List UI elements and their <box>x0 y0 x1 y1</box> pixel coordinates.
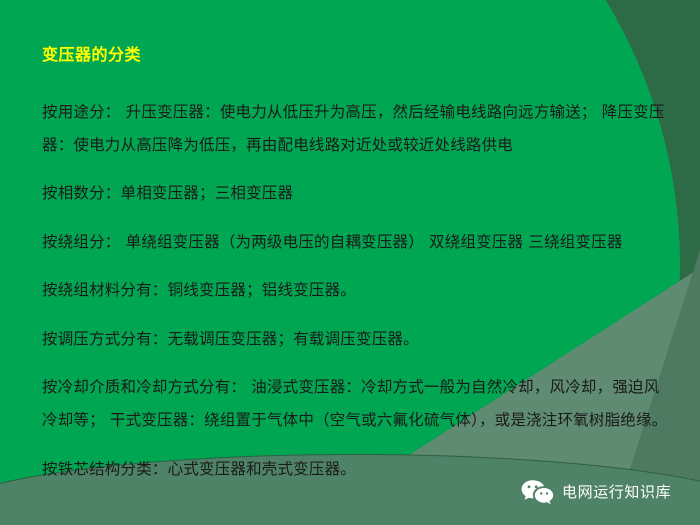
watermark: 电网运行知识库 <box>521 479 671 505</box>
body-text-block: 按用途分： 升压变压器：使电力从低压升为高压，然后经输电线路向远方输送； 降压变… <box>42 80 670 501</box>
page-title: 变压器的分类 <box>42 44 141 66</box>
wechat-icon <box>521 479 555 505</box>
slide-content: 变压器的分类 按用途分： 升压变压器：使电力从低压升为高压，然后经输电线路向远方… <box>0 0 700 525</box>
watermark-label: 电网运行知识库 <box>562 482 671 502</box>
paragraph-by-usage: 按用途分： 升压变压器：使电力从低压升为高压，然后经输电线路向远方输送； 降压变… <box>42 96 670 162</box>
slide-canvas: 变压器的分类 按用途分： 升压变压器：使电力从低压升为高压，然后经输电线路向远方… <box>0 0 700 525</box>
paragraph-by-winding-material: 按绕组材料分有：铜线变压器；铝线变压器。 <box>42 274 670 307</box>
paragraph-by-winding-group: 按绕组分： 单绕组变压器（为两级电压的自耦变压器） 双绕组变压器 三绕组变压器 <box>42 226 670 259</box>
paragraph-by-cooling: 按冷却介质和冷却方式分有： 油浸式变压器：冷却方式一般为自然冷却，风冷却，强迫风… <box>42 371 670 437</box>
paragraph-by-voltage-regulation: 按调压方式分有：无载调压变压器；有载调压变压器。 <box>42 323 670 356</box>
paragraph-by-phase-count: 按相数分：单相变压器；三相变压器 <box>42 177 670 210</box>
